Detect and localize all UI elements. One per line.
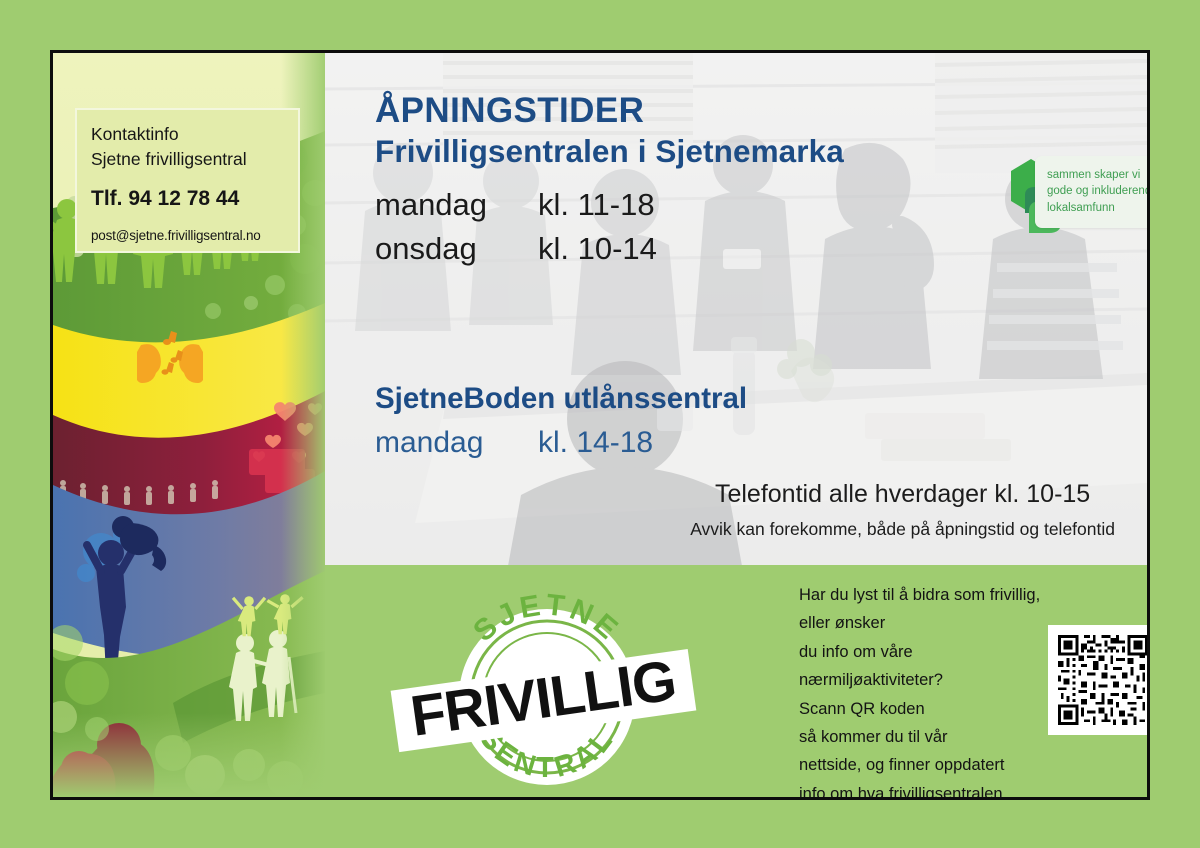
qr-code[interactable] [1048,625,1150,735]
lending-hours-row: mandag kl. 14-18 [375,422,747,465]
qr-code-graphic [1055,632,1150,728]
slogan-badge: sammen skaper vi gode og inkluderende lo… [995,149,1147,244]
cta-line-1: Har du lyst til å bidra som frivillig, e… [799,581,1049,638]
slogan-text: sammen skaper vi gode og inkluderende lo… [1047,167,1147,216]
photo-panel: ÅPNINGSTIDER Frivilligsentralen i Sjetne… [325,53,1147,565]
phone-hours-block: Telefontid alle hverdager kl. 10-15 Avvi… [690,478,1115,541]
phone-hours-main: Telefontid alle hverdager kl. 10-15 [690,478,1115,511]
poster: Kontaktinfo Sjetne frivilligsentral Tlf.… [50,50,1150,800]
cta-line-2: du info om våre nærmiljøaktiviteter? [799,638,1049,695]
cta-text-block: Har du lyst til å bidra som frivillig, e… [799,581,1049,800]
opening-title: ÅPNINGSTIDER [375,91,844,131]
cta-line-6: info om hva frivilligsentralen [799,780,1049,800]
cta-line-3: Scann QR koden [799,695,1049,723]
contact-phone: Tlf. 94 12 78 44 [91,184,284,214]
lending-title: SjetneBoden utlånssentral [375,381,747,416]
slogan-line-2: gode og inkluderende [1047,183,1147,199]
opening-time: kl. 11-18 [538,183,655,227]
opening-hours-row: onsdag kl. 10-14 [375,227,844,271]
slogan-line-3: lokalsamfunn [1047,200,1147,216]
lending-hours-block: SjetneBoden utlånssentral mandag kl. 14-… [375,381,747,465]
opening-time: kl. 10-14 [538,227,657,271]
contact-email: post@sjetne.frivilligsentral.no [91,226,284,246]
opening-hours-list: mandag kl. 11-18 onsdag kl. 10-14 [375,183,844,271]
bottom-section: SJETNE SENTRAL FRIVILLIG Har du lyst til… [325,565,1147,797]
opening-hours-row: mandag kl. 11-18 [375,183,844,227]
contact-info-box: Kontaktinfo Sjetne frivilligsentral Tlf.… [75,108,300,253]
opening-hours-block: ÅPNINGSTIDER Frivilligsentralen i Sjetne… [375,91,844,271]
slogan-line-1: sammen skaper vi [1047,167,1147,183]
opening-subtitle: Frivilligsentralen i Sjetnemarka [375,133,844,170]
contact-org: Sjetne frivilligsentral [91,147,284,172]
phone-hours-note: Avvik kan forekomme, både på åpningstid … [690,518,1115,541]
contact-label: Kontaktinfo [91,122,284,147]
opening-day: mandag [375,183,538,227]
sidebar-illustration: Kontaktinfo Sjetne frivilligsentral Tlf.… [53,53,325,797]
opening-day: onsdag [375,227,538,271]
lending-time: kl. 14-18 [538,422,653,465]
stamp-graphic: SJETNE SENTRAL FRIVILLIG [387,573,707,789]
cta-line-5: nettside, og finner oppdatert [799,751,1049,779]
frivillig-stamp-logo: SJETNE SENTRAL FRIVILLIG [387,573,707,789]
lending-day: mandag [375,422,538,465]
cta-line-4: så kommer du til vår [799,723,1049,751]
